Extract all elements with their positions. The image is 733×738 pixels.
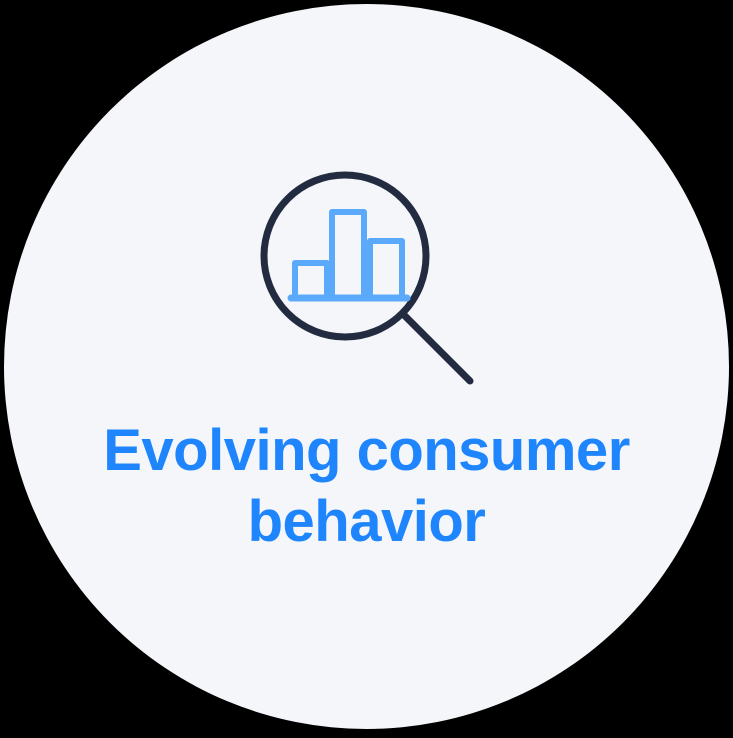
consumer-behavior-card: Evolving consumer behavior — [0, 0, 733, 733]
card-circle-background — [4, 4, 729, 729]
card-title: Evolving consumer behavior — [0, 415, 733, 557]
card-title-line-1: Evolving consumer — [0, 415, 733, 486]
card-title-line-2: behavior — [0, 486, 733, 557]
